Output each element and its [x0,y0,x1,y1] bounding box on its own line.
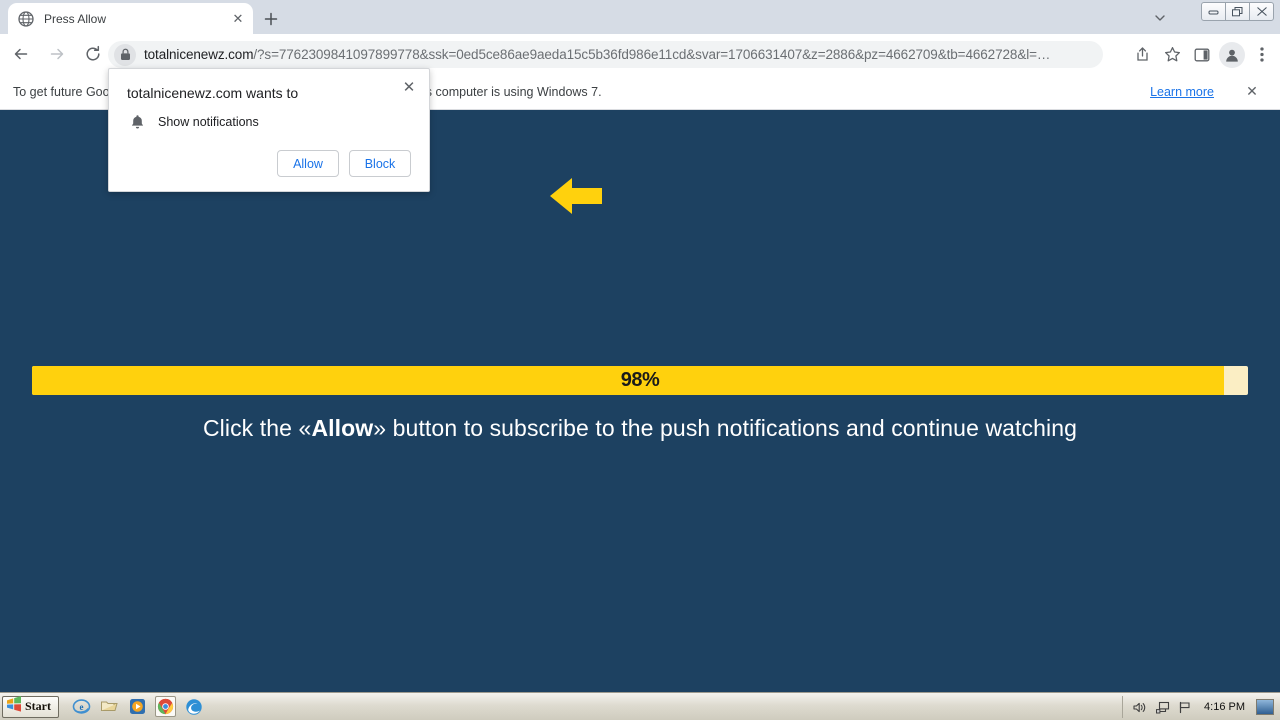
tab-close-icon[interactable]: ✕ [229,10,247,28]
permission-dialog-title: totalnicenewz.com wants to [127,85,298,101]
window-controls [1201,2,1274,21]
microsoft-edge-icon[interactable] [183,696,204,717]
lock-icon[interactable] [114,44,136,66]
share-icon[interactable] [1128,41,1156,68]
headline-after: » button to subscribe to the push notifi… [373,415,1077,441]
infobar-close-icon[interactable]: ✕ [1242,82,1262,102]
allow-button[interactable]: Allow [277,150,339,177]
headline-before: Click the « [203,415,311,441]
new-tab-button[interactable] [258,6,284,32]
tab-search-chevron-down-icon[interactable] [1148,8,1172,28]
block-button[interactable]: Block [349,150,411,177]
forward-arrow-icon[interactable] [42,39,72,69]
url-host: totalnicenewz.com [144,47,253,62]
permission-item-label: Show notifications [158,115,259,129]
taskbar-clock[interactable]: 4:16 PM [1204,701,1245,713]
notification-permission-dialog: totalnicenewz.com wants to ✕ Show notifi… [108,68,430,192]
windows-taskbar: Start e [0,692,1280,720]
three-dot-menu-icon[interactable] [1248,41,1276,68]
headline-allow-word: Allow [311,415,373,441]
windows-explorer-icon[interactable] [99,696,120,717]
start-button-label: Start [25,699,51,714]
infobar-learn-more-link[interactable]: Learn more [1150,85,1214,99]
windows-logo-icon [6,696,22,717]
browser-tab[interactable]: Press Allow ✕ [8,3,253,34]
reload-icon[interactable] [78,39,108,69]
address-bar[interactable]: totalnicenewz.com/?s=7762309841097899778… [108,41,1103,68]
tab-title: Press Allow [44,12,229,26]
system-tray: 4:16 PM [1122,696,1278,718]
media-player-icon[interactable] [127,696,148,717]
star-icon[interactable] [1158,41,1186,68]
permission-request-row: Show notifications [127,112,259,132]
url-path: /?s=7762309841097899778&ssk=0ed5ce86ae9a… [253,47,1050,62]
network-icon[interactable] [1154,699,1170,715]
restore-icon[interactable] [1225,2,1250,21]
flag-icon[interactable] [1177,699,1193,715]
start-button[interactable]: Start [2,696,59,718]
avatar[interactable] [1219,42,1245,68]
page-content: 98% Click the «Allow» button to subscrib… [0,110,1280,692]
profile-avatar-icon[interactable] [1218,41,1246,68]
tab-strip: Press Allow ✕ [0,0,1280,34]
minimize-icon[interactable] [1201,2,1226,21]
volume-icon[interactable] [1131,699,1147,715]
close-icon[interactable] [1249,2,1274,21]
internet-explorer-icon[interactable]: e [71,696,92,717]
address-bar-url: totalnicenewz.com/?s=7762309841097899778… [144,47,1050,62]
progress-bar: 98% [32,366,1248,395]
left-arrow-icon [548,172,604,220]
permission-dialog-buttons: Allow Block [277,150,411,177]
side-panel-icon[interactable] [1188,41,1216,68]
browser-window: Press Allow ✕ [0,0,1280,720]
page-headline: Click the «Allow» button to subscribe to… [0,415,1280,442]
show-desktop-icon[interactable] [1256,699,1274,715]
toolbar-icon-group [1128,41,1276,68]
back-arrow-icon[interactable] [6,39,36,69]
svg-text:e: e [80,702,84,712]
bell-icon [127,112,147,132]
permission-dialog-close-icon[interactable]: ✕ [399,77,419,97]
quick-launch-bar: e [71,696,204,717]
progress-percent-label: 98% [32,366,1248,395]
globe-icon [18,11,34,27]
google-chrome-icon[interactable] [155,696,176,717]
